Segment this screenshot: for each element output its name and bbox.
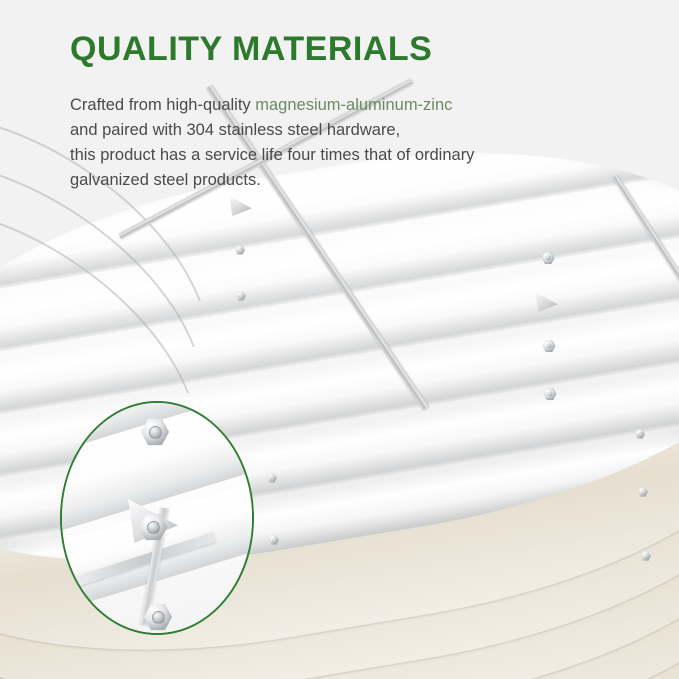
hex-bolt-icon <box>139 513 167 541</box>
hex-bolt-icon <box>543 340 556 353</box>
hex-bolt-icon <box>638 487 648 497</box>
body-copy: Crafted from high-quality magnesium-alum… <box>70 93 630 193</box>
product-feature-banner: QUALITY MATERIALS Crafted from high-qual… <box>0 0 679 679</box>
body-line-2: and paired with 304 stainless steel hard… <box>70 118 630 143</box>
body-line-3: this product has a service life four tim… <box>70 143 630 168</box>
hex-bolt-icon <box>267 473 277 483</box>
body-line-4: galvanized steel products. <box>70 168 630 193</box>
body-line-1-prefix: Crafted from high-quality <box>70 96 255 114</box>
hex-bolt-icon <box>641 551 651 561</box>
hex-bolt-icon <box>236 291 246 301</box>
detail-callout-circle <box>60 401 254 635</box>
hex-bolt-icon <box>141 418 169 446</box>
hex-bolt-icon <box>235 245 245 255</box>
material-highlight: magnesium-aluminum-zinc <box>255 96 452 114</box>
page-title: QUALITY MATERIALS <box>70 30 432 69</box>
hex-bolt-icon <box>144 603 172 631</box>
hex-bolt-icon <box>635 429 645 439</box>
hex-bolt-icon <box>269 535 279 545</box>
body-line-1: Crafted from high-quality magnesium-alum… <box>70 93 630 118</box>
hex-bolt-icon <box>542 252 555 265</box>
detail-callout-content <box>62 403 252 633</box>
hex-bolt-icon <box>544 388 557 401</box>
